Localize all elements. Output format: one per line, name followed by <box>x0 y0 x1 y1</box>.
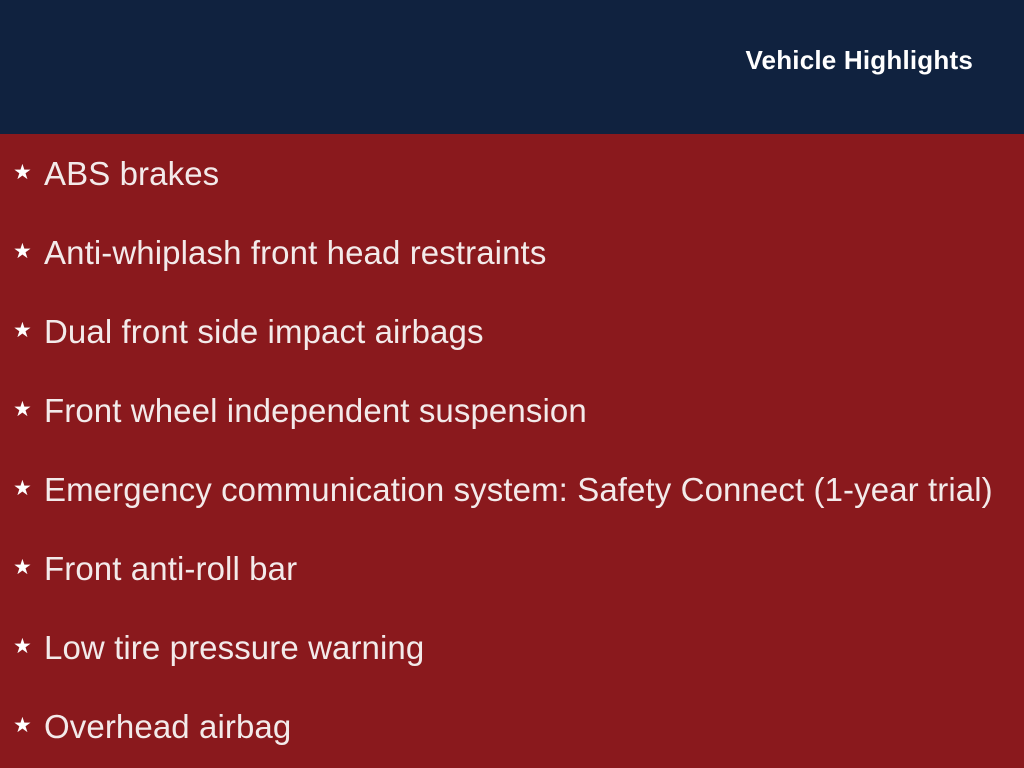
star-icon: ★ <box>13 715 44 736</box>
list-item: ★ Overhead airbag <box>0 687 1024 766</box>
slide-header: Vehicle Highlights <box>0 0 1024 134</box>
list-item: ★ Emergency communication system: Safety… <box>0 450 1024 529</box>
list-item: ★ Front anti-roll bar <box>0 529 1024 608</box>
vehicle-highlights-list: ★ ABS brakes ★ Anti-whiplash front head … <box>0 134 1024 766</box>
list-item-label: Dual front side impact airbags <box>44 313 1024 351</box>
list-item-label: Overhead airbag <box>44 708 1024 746</box>
list-item: ★ Front wheel independent suspension <box>0 371 1024 450</box>
star-icon: ★ <box>13 399 44 420</box>
star-icon: ★ <box>13 478 44 499</box>
star-icon: ★ <box>13 557 44 578</box>
list-item: ★ ABS brakes <box>0 134 1024 213</box>
star-icon: ★ <box>13 162 44 183</box>
list-item: ★ Anti-whiplash front head restraints <box>0 213 1024 292</box>
list-item-label: ABS brakes <box>44 155 1024 193</box>
star-icon: ★ <box>13 320 44 341</box>
star-icon: ★ <box>13 241 44 262</box>
list-item-label: Low tire pressure warning <box>44 629 1024 667</box>
list-item-label: Anti-whiplash front head restraints <box>44 234 1024 272</box>
list-item: ★ Low tire pressure warning <box>0 608 1024 687</box>
slide-body: ★ ABS brakes ★ Anti-whiplash front head … <box>0 134 1024 768</box>
page-title: Vehicle Highlights <box>745 0 1024 76</box>
star-icon: ★ <box>13 636 44 657</box>
list-item-label: Front anti-roll bar <box>44 550 1024 588</box>
list-item-label: Emergency communication system: Safety C… <box>44 471 1024 509</box>
list-item: ★ Dual front side impact airbags <box>0 292 1024 371</box>
slide: Vehicle Highlights ★ ABS brakes ★ Anti-w… <box>0 0 1024 768</box>
list-item-label: Front wheel independent suspension <box>44 392 1024 430</box>
